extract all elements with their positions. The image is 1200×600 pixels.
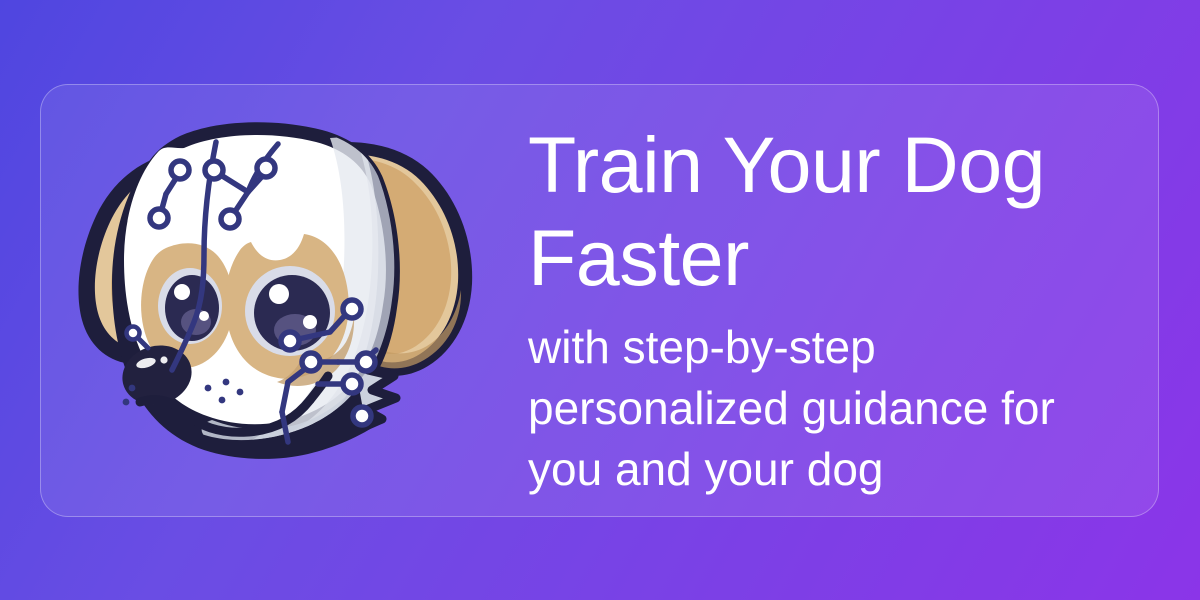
mascot-illustration [62,120,492,480]
subheadline: with step-by-step personalized guidance … [528,317,1128,500]
promo-banner: Train Your Dog Faster with step-by-step … [0,0,1200,600]
copy-block: Train Your Dog Faster with step-by-step … [528,118,1128,500]
circuit-node-left-cheek [127,327,140,340]
headline: Train Your Dog Faster [528,118,1128,304]
